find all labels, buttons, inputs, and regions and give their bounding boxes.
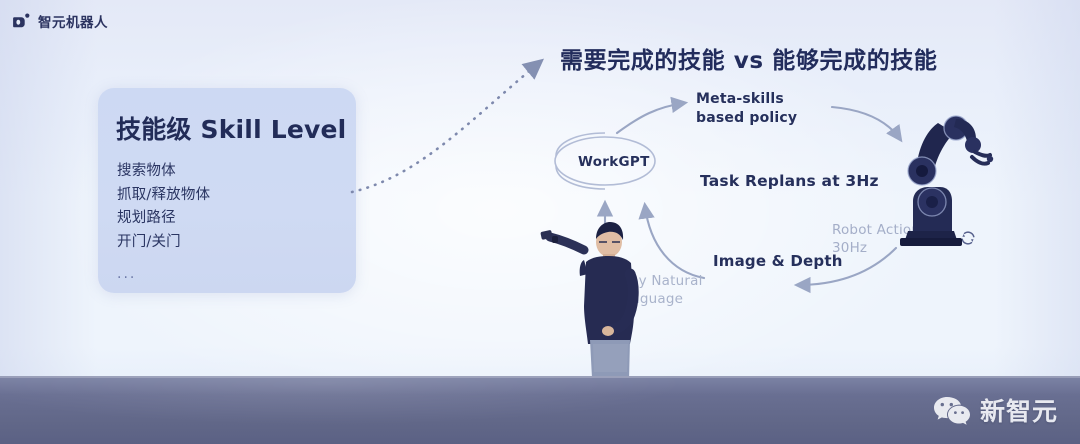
watermark-text: 新智元 [980,392,1058,428]
robot-arm-icon [880,105,1000,250]
node-meta-policy-label: Meta-skills based policy [696,90,826,128]
node-image-depth-label: Image & Depth [713,252,843,271]
arrow-workgpt-to-policy [617,103,684,133]
stage-floor-sheen [0,376,1080,444]
presentation-screenshot: 智元机器人 技能级 Skill Level 搜索物体 抓取/释放物体 规划路径 … [0,0,1080,444]
dotted-pointer-arrow [352,62,540,192]
wechat-icon [933,395,971,426]
node-workgpt-label: WorkGPT [578,154,650,170]
node-task-replans-label: Task Replans at 3Hz [700,172,879,190]
watermark: 新智元 [933,392,1058,428]
